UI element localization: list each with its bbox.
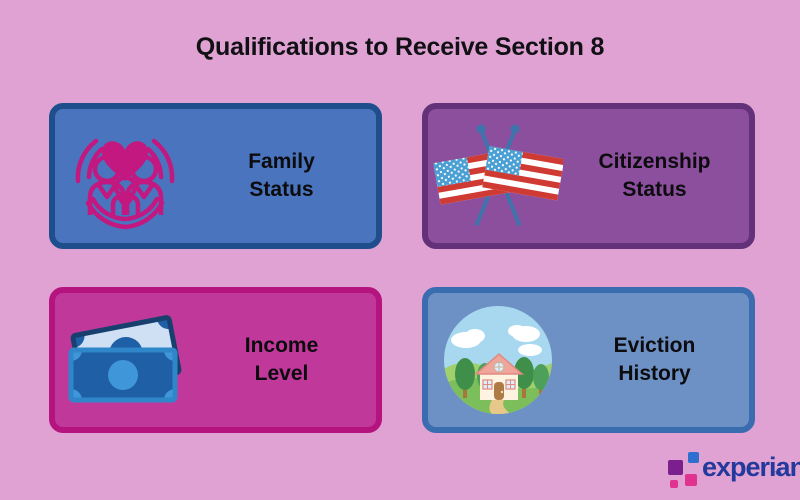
- card-income-level[interactable]: Income Level: [49, 287, 382, 433]
- banknotes-icon: [55, 298, 195, 422]
- card-family-status[interactable]: Family Status: [49, 103, 382, 249]
- logo-square-pink-medium-icon: [685, 474, 697, 486]
- house-landscape-icon: [428, 298, 568, 422]
- card-label-line2: Status: [568, 176, 741, 204]
- card-label-income-level: Income Level: [195, 332, 376, 389]
- qualification-cards-grid: Family Status: [49, 103, 755, 433]
- card-label-line2: Status: [195, 176, 368, 204]
- logo-square-purple-icon: [668, 460, 683, 475]
- infographic-page: Qualifications to Receive Section 8: [0, 0, 800, 500]
- logo-square-pink-small-icon: [670, 480, 678, 488]
- page-title: Qualifications to Receive Section 8: [0, 33, 800, 62]
- card-label-family-status: Family Status: [195, 148, 376, 205]
- card-label-line1: Income: [195, 332, 368, 360]
- logo-square-blue-icon: [688, 452, 699, 463]
- card-eviction-history[interactable]: Eviction History: [422, 287, 755, 433]
- experian-logo[interactable]: experian ™: [668, 452, 788, 492]
- card-label-citizenship-status: Citizenship Status: [568, 148, 749, 205]
- card-label-eviction-history: Eviction History: [568, 332, 749, 389]
- card-label-line2: History: [568, 360, 741, 388]
- logo-wordmark: experian: [702, 454, 800, 481]
- card-label-line1: Family: [195, 148, 368, 176]
- logo-trademark: ™: [774, 470, 782, 479]
- crossed-us-flags-icon: [428, 114, 568, 238]
- card-citizenship-status[interactable]: Citizenship Status: [422, 103, 755, 249]
- card-label-line1: Citizenship: [568, 148, 741, 176]
- card-label-line1: Eviction: [568, 332, 741, 360]
- family-heart-icon: [55, 114, 195, 238]
- card-label-line2: Level: [195, 360, 368, 388]
